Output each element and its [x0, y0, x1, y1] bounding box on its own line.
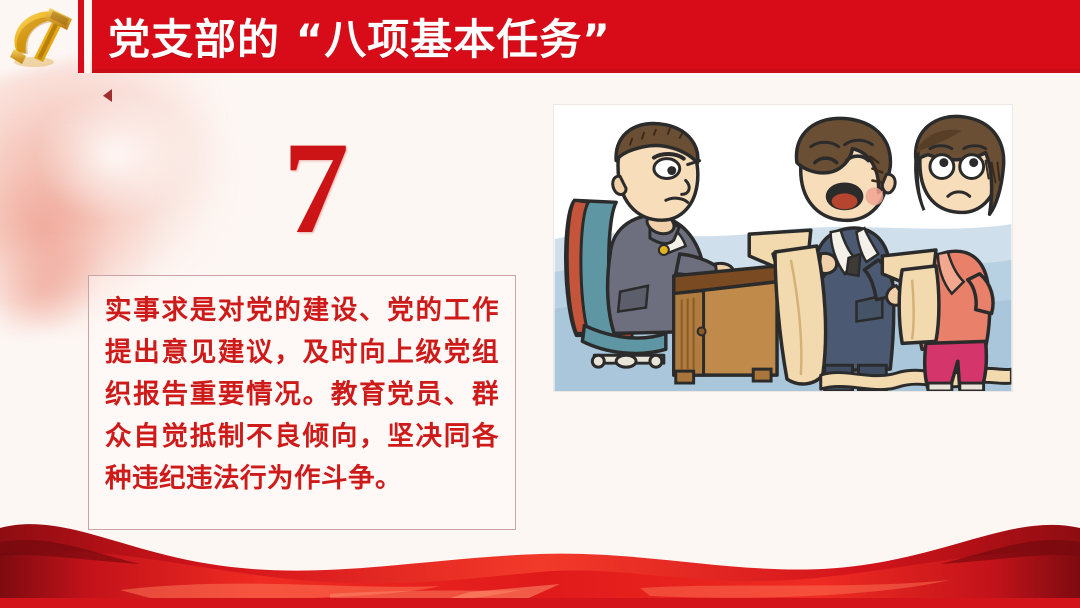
illustration-cartoon-report-to-leader — [553, 104, 1013, 392]
decor-accent-mark — [103, 89, 112, 102]
pink-ink-watermark-highlight — [40, 95, 190, 215]
header-accent-stripe — [78, 0, 84, 73]
cpc-hammer-sickle-emblem — [4, 2, 78, 72]
slide-canvas: 党支部的 “八项基本任务” — [0, 0, 1080, 608]
body-text: 实事求是对党的建设、党的工作提出意见建议，及时向上级党组织报告重要情况。教育党员… — [105, 290, 499, 500]
header-divider — [85, 0, 90, 73]
body-text-box: 实事求是对党的建设、党的工作提出意见建议，及时向上级党组织报告重要情况。教育党员… — [88, 275, 516, 530]
item-number: 7 — [246, 118, 386, 258]
page-title: 党支部的 “八项基本任务” — [108, 0, 611, 73]
